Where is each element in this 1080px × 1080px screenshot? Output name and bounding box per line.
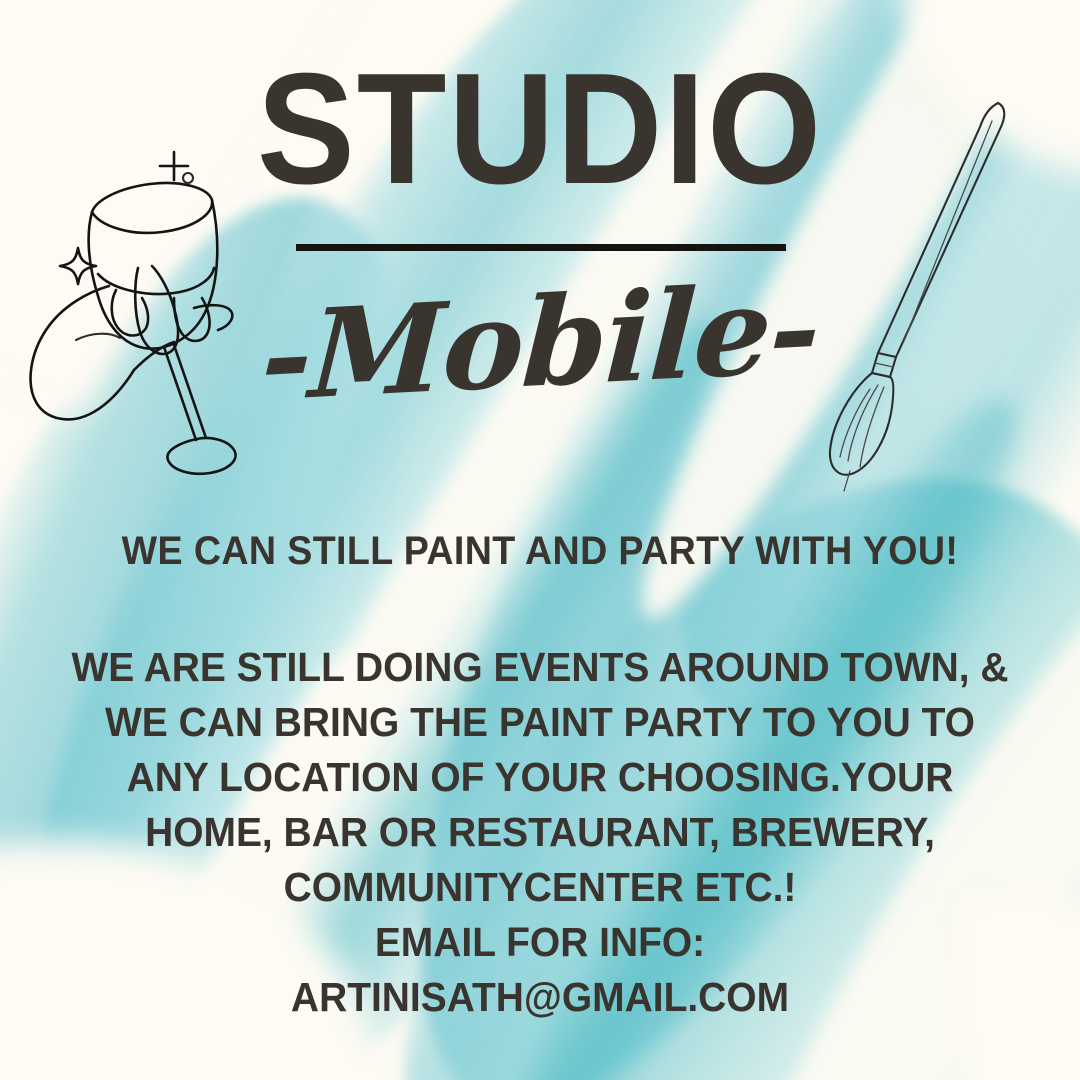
body-line: COMMUNITYCENTER ETC.! [65,860,1015,915]
body-line: WE CAN BRING THE PAINT PARTY TO YOU TO [65,695,1015,750]
poster-canvas: STUDIO -Mobile- WE CAN STILL PAINT AND P… [0,0,1080,1080]
body-line: WE ARE STILL DOING EVENTS AROUND TOWN, & [65,640,1015,695]
tagline: WE CAN STILL PAINT AND PARTY WITH YOU! [32,529,1047,574]
body-copy: WE ARE STILL DOING EVENTS AROUND TOWN, &… [65,640,1015,1025]
email-address[interactable]: ARTINISATH@GMAIL.COM [65,970,1015,1025]
sparkle-star-icon [56,244,100,288]
body-line: ANY LOCATION OF YOUR CHOOSING.YOUR [65,750,1015,805]
email-label: EMAIL FOR INFO: [65,915,1015,970]
title-divider [296,244,786,251]
page-title: STUDIO [38,50,1042,208]
body-line: HOME, BAR OR RESTAURANT, BREWERY, [65,805,1015,860]
